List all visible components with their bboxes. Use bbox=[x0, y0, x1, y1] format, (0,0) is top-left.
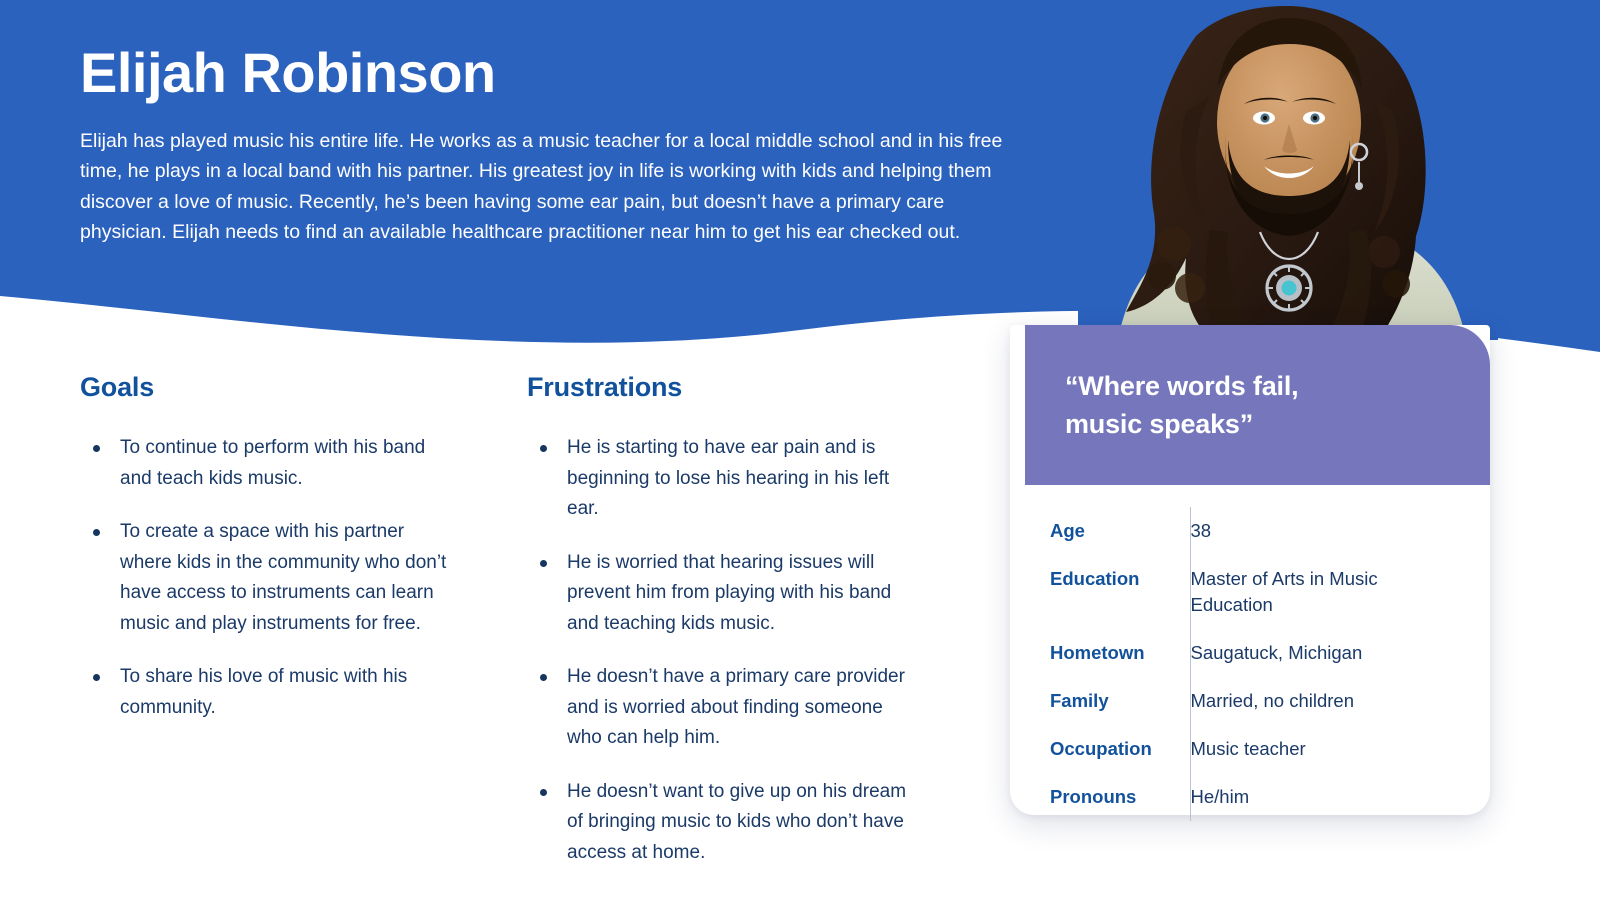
page-title: Elijah Robinson bbox=[80, 42, 1010, 104]
list-item: To create a space with his partner where… bbox=[80, 517, 455, 639]
attribute-value: He/him bbox=[1190, 773, 1462, 821]
persona-quote: “Where words fail, music speaks” bbox=[1065, 367, 1490, 443]
table-row: Pronouns He/him bbox=[1050, 773, 1462, 821]
goals-section: Goals To continue to perform with his ba… bbox=[0, 372, 455, 891]
table-row: Occupation Music teacher bbox=[1050, 725, 1462, 773]
goals-title: Goals bbox=[80, 372, 455, 403]
attribute-value: Music teacher bbox=[1190, 725, 1462, 773]
attribute-label: Education bbox=[1050, 555, 1190, 629]
frustrations-list: He is starting to have ear pain and is b… bbox=[527, 433, 915, 868]
quote-band: “Where words fail, music speaks” bbox=[1025, 325, 1490, 485]
hero-text-block: Elijah Robinson Elijah has played music … bbox=[80, 42, 1010, 248]
attribute-value: Saugatuck, Michigan bbox=[1190, 629, 1462, 677]
attribute-label: Family bbox=[1050, 677, 1190, 725]
portrait-photo bbox=[1078, 0, 1498, 340]
table-row: Age 38 bbox=[1050, 507, 1462, 555]
attribute-value: 38 bbox=[1190, 507, 1462, 555]
table-row: Family Married, no children bbox=[1050, 677, 1462, 725]
list-item: He is starting to have ear pain and is b… bbox=[527, 433, 915, 525]
list-item: He doesn’t want to give up on his dream … bbox=[527, 777, 915, 869]
table-row: Education Master of Arts in Music Educat… bbox=[1050, 555, 1462, 629]
attribute-value: Master of Arts in Music Education bbox=[1190, 555, 1462, 629]
list-item: To continue to perform with his band and… bbox=[80, 433, 455, 494]
list-item: To share his love of music with his comm… bbox=[80, 662, 455, 723]
persona-bio: Elijah has played music his entire life.… bbox=[80, 126, 1010, 248]
attribute-value: Married, no children bbox=[1190, 677, 1462, 725]
frustrations-title: Frustrations bbox=[527, 372, 915, 403]
attribute-label: Occupation bbox=[1050, 725, 1190, 773]
frustrations-section: Frustrations He is starting to have ear … bbox=[455, 372, 915, 891]
list-item: He is worried that hearing issues will p… bbox=[527, 548, 915, 640]
attributes-table: Age 38 Education Master of Arts in Music… bbox=[1050, 507, 1462, 821]
table-row: Hometown Saugatuck, Michigan bbox=[1050, 629, 1462, 677]
persona-page: Elijah Robinson Elijah has played music … bbox=[0, 0, 1600, 900]
goals-list: To continue to perform with his band and… bbox=[80, 433, 455, 723]
list-item: He doesn’t have a primary care provider … bbox=[527, 662, 915, 754]
attribute-label: Hometown bbox=[1050, 629, 1190, 677]
attributes-panel: Age 38 Education Master of Arts in Music… bbox=[1010, 485, 1490, 815]
attribute-label: Pronouns bbox=[1050, 773, 1190, 821]
persona-columns: Goals To continue to perform with his ba… bbox=[0, 372, 1000, 891]
attribute-label: Age bbox=[1050, 507, 1190, 555]
